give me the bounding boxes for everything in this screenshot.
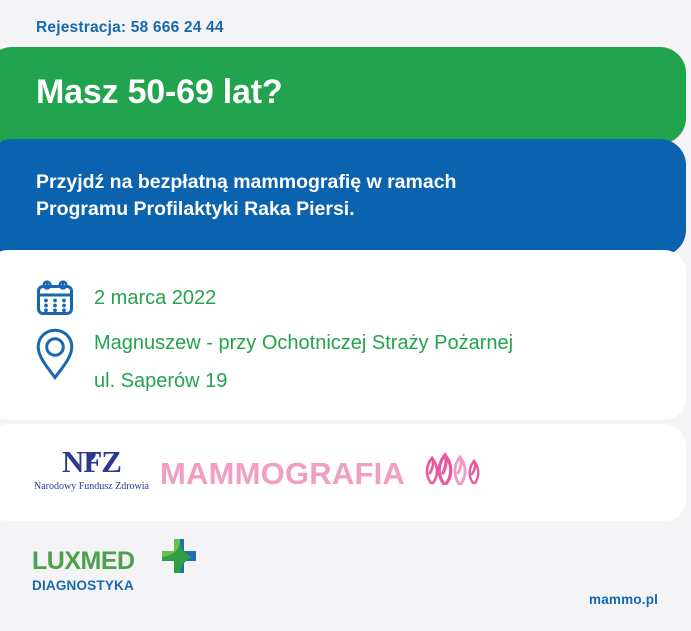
blue-message-card: Przyjdź na bezpłatną mammografię w ramac… <box>0 139 686 256</box>
registration-phone: Rejestracja: 58 666 24 44 <box>36 19 224 37</box>
medical-cross-icon <box>158 535 200 582</box>
mammografia-wordmark: MAMMOGRAFIA <box>160 456 405 492</box>
event-date-text: 2 marca 2022 <box>94 276 216 320</box>
message-text: Przyjdź na bezpłatną mammografię w ramac… <box>36 169 456 223</box>
calendar-icon <box>33 276 77 320</box>
event-location-row: Magnuszew - przy Ochotniczej Straży Poża… <box>33 324 513 400</box>
event-date-row: 2 marca 2022 <box>33 276 216 320</box>
luxmed-wordmark: LUXMED <box>32 549 135 574</box>
poster-root: Rejestracja: 58 666 24 44 Masz 50-69 lat… <box>0 0 691 631</box>
nfz-logo: NFZ Narodowy Fundusz Zdrowia <box>34 446 149 492</box>
pink-ribbons-icon <box>422 451 484 490</box>
event-info-card: 2 marca 2022 Magnuszew - przy Ochotnicze… <box>0 250 686 420</box>
partner-logos-card: NFZ Narodowy Fundusz Zdrowia MAMMOGRAFIA <box>0 424 686 521</box>
nfz-subtitle: Narodowy Fundusz Zdrowia <box>34 482 149 492</box>
nfz-heart-icon <box>86 451 97 462</box>
headline-text: Masz 50-69 lat? <box>36 73 282 112</box>
event-address-text: Magnuszew - przy Ochotniczej Straży Poża… <box>94 324 513 400</box>
website-label: mammo.pl <box>589 592 658 607</box>
nfz-wordmark: NFZ <box>62 446 121 477</box>
luxmed-logo: LUXMED DIAGNOSTYKA <box>32 549 135 593</box>
map-pin-icon <box>33 324 77 384</box>
green-headline-card: Masz 50-69 lat? <box>0 47 686 144</box>
luxmed-subtitle: DIAGNOSTYKA <box>32 579 135 593</box>
